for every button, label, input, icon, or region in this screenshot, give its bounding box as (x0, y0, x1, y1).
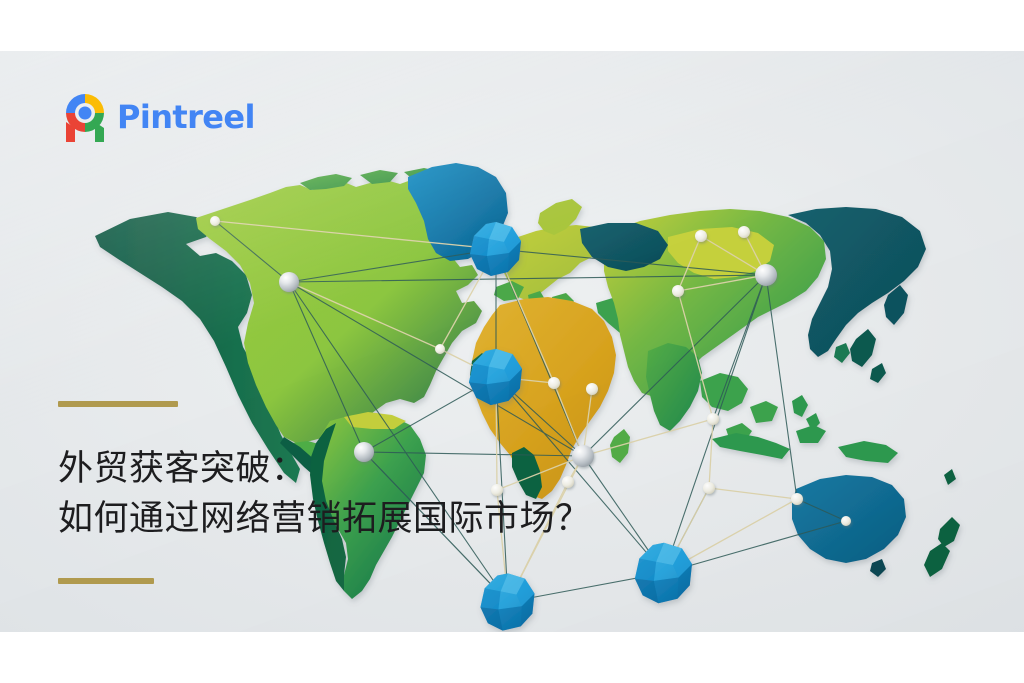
pintreel-pin-logo-icon (62, 92, 108, 142)
page-title: 外贸获客突破： 如何通过网络营销拓展国际市场？ (58, 445, 658, 544)
brand-logo[interactable]: Pintreel (62, 92, 255, 142)
node-natl-dot (435, 344, 445, 354)
node-aus-dot (841, 516, 851, 526)
brand-wordmark: Pintreel (117, 101, 255, 133)
node-seasia-dot (707, 413, 719, 425)
tasmania (870, 559, 886, 577)
philippines (792, 395, 820, 431)
page-title-line-2: 如何通过网络营销拓展国际市场？ (58, 495, 658, 545)
page-title-line-1: 外贸获客突破： (58, 445, 658, 495)
node-india-dot (703, 482, 715, 494)
pacific-islands (944, 469, 956, 485)
headline-rule-top (58, 401, 178, 407)
banner-artboard: Pintreel 外贸获客突破： 如何通过网络营销拓展国际市场？ (0, 51, 1024, 632)
node-casia-dot (672, 285, 684, 297)
node-pac-dot (791, 493, 803, 505)
node-ru-dot (695, 230, 707, 242)
new-guinea (838, 441, 898, 463)
node-eafrica-dot (586, 383, 598, 395)
continent-new-zealand (924, 517, 960, 577)
slide-canvas: Pintreel 外贸获客突破： 如何通过网络营销拓展国际市场？ (0, 0, 1024, 683)
node-na-small (210, 216, 220, 226)
node-ru-dot2 (738, 226, 750, 238)
node-na-silver (279, 272, 299, 292)
node-asia-silver (755, 264, 777, 286)
korea (834, 343, 850, 363)
headline-rule-bottom (58, 578, 154, 584)
headline-block: 外贸获客突破： 如何通过网络营销拓展国际市场？ (58, 401, 658, 584)
japan (850, 329, 886, 383)
node-nafrica-dot (548, 377, 560, 389)
